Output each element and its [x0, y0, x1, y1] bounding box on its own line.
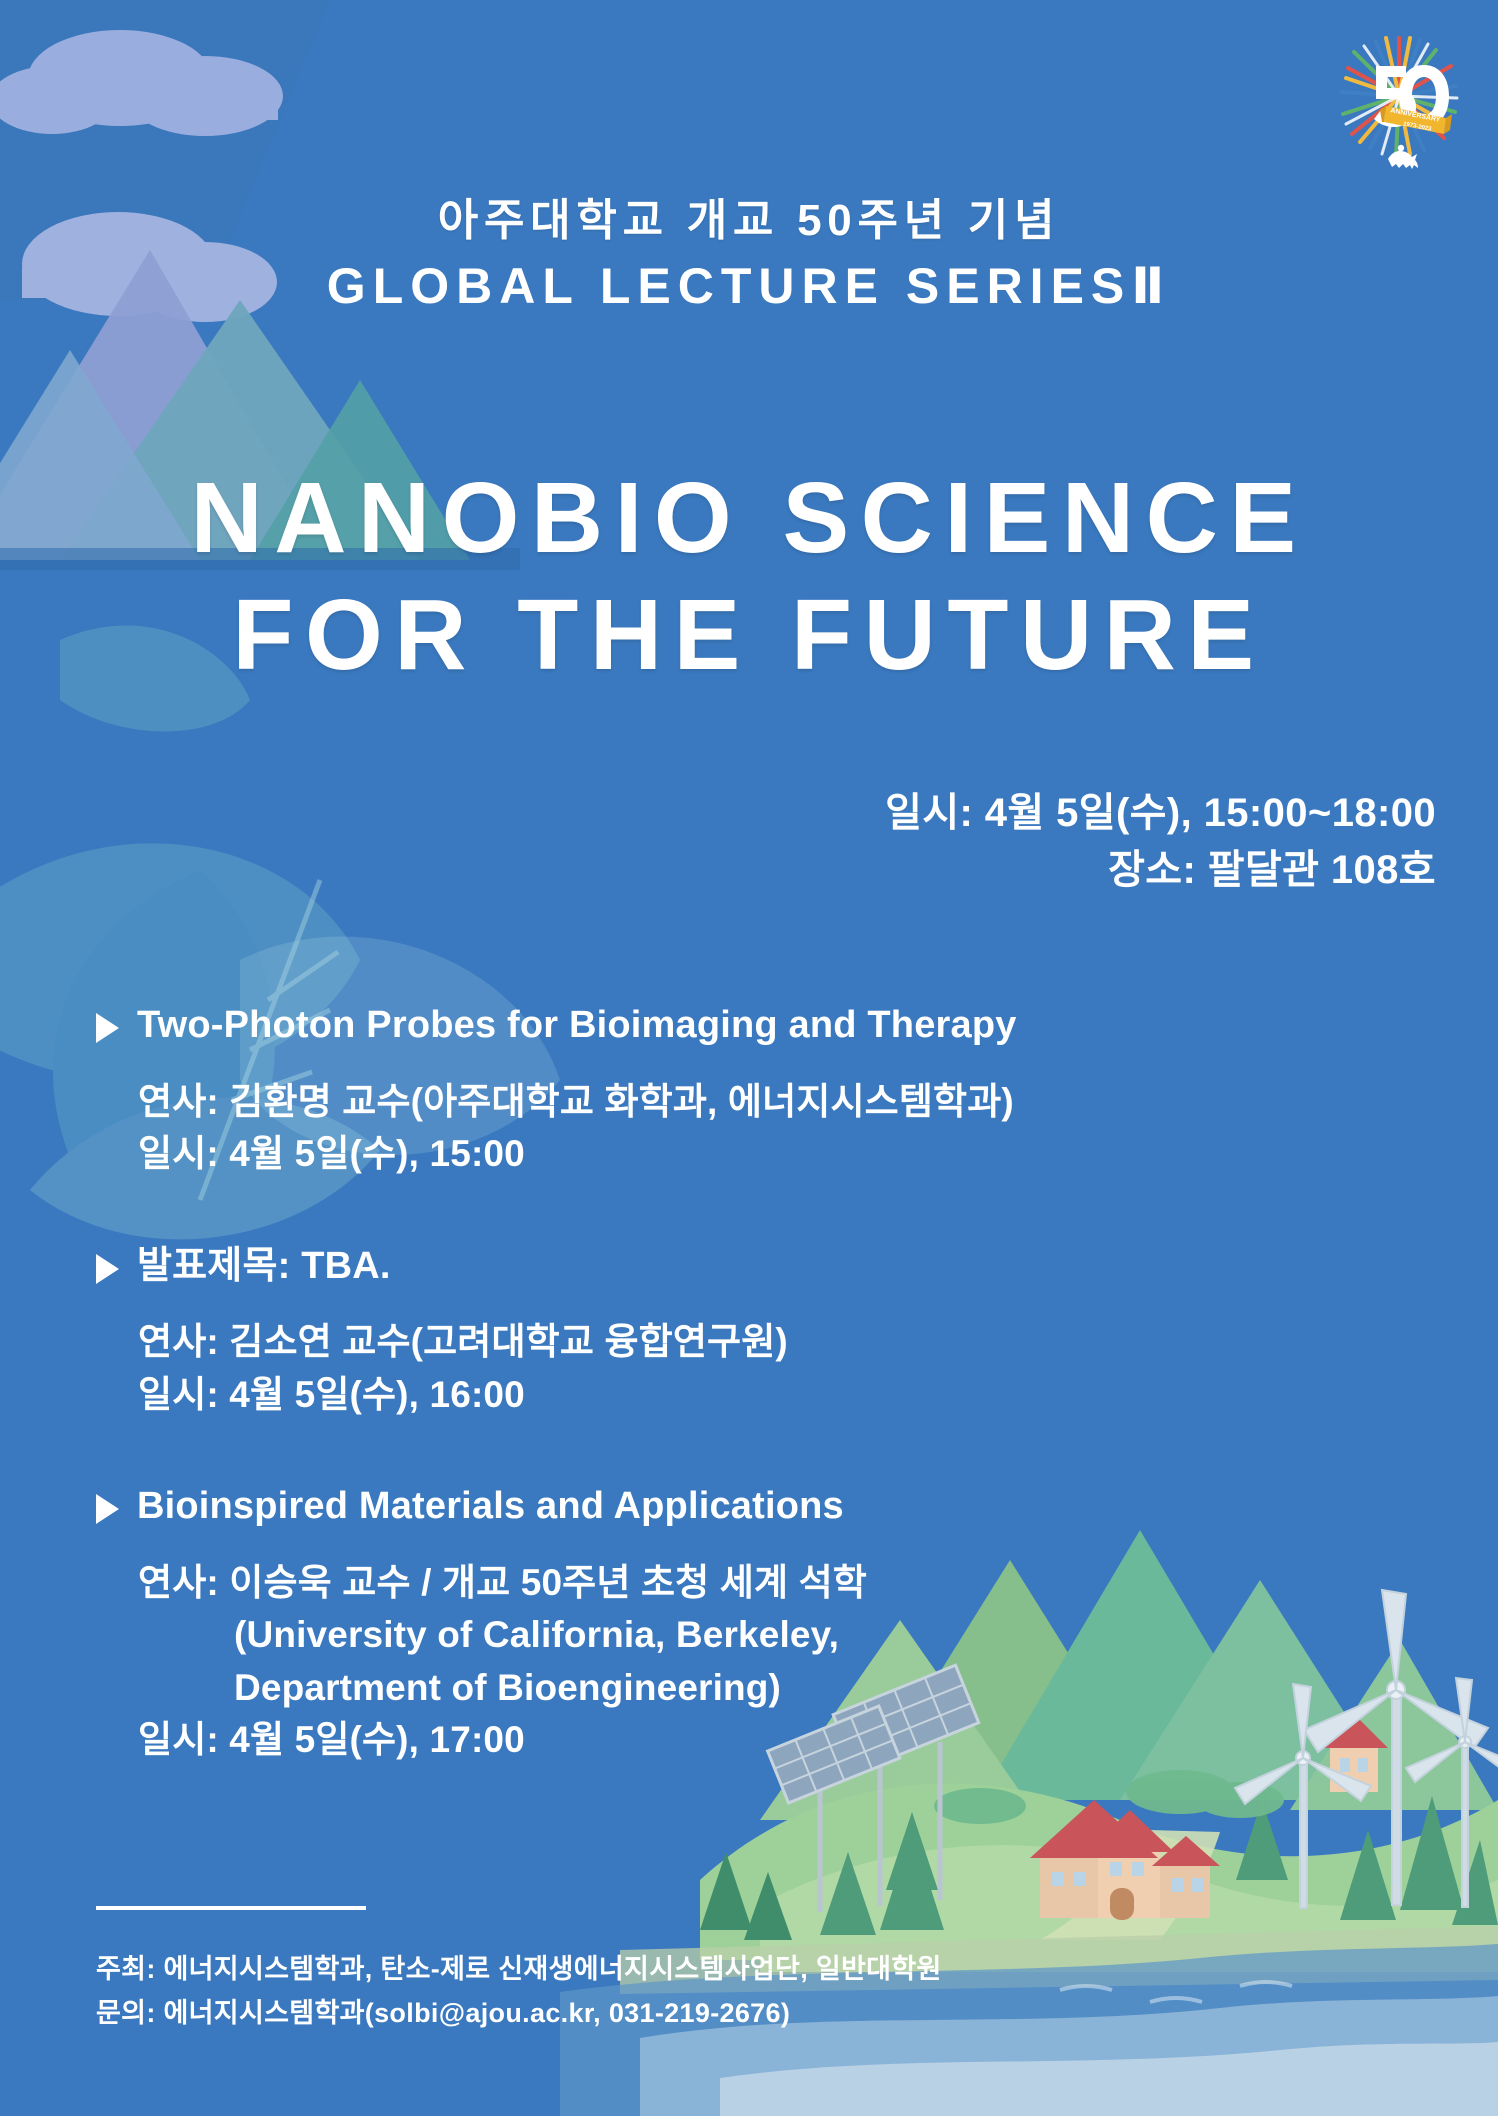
talk-title-row: Bioinspired Materials and Applications [96, 1483, 1438, 1531]
header-series-title: GLOBAL LECTURE SERIESⅡ [0, 259, 1498, 314]
header-kicker: 아주대학교 개교 50주년 기념 [0, 196, 1498, 247]
poster-main-title: NANOBIO SCIENCE FOR THE FUTURE [0, 460, 1498, 694]
talk-title-row: 발표제목: TBA. [96, 1243, 1438, 1291]
talk-title-row: Two-Photon Probes for Bioimaging and The… [96, 1002, 1438, 1050]
event-datetime: 일시: 4월 5일(수), 15:00~18:00 [885, 785, 1436, 842]
talk-item: 발표제목: TBA. 연사: 김소연 교수(고려대학교 융합연구원) 일시: 4… [96, 1243, 1438, 1422]
ajou-50th-anniversary-logo: ANNIVERSARY 1973-2023 [1324, 22, 1474, 172]
talk-speaker: 연사: 김소연 교수(고려대학교 융합연구원) [138, 1316, 1438, 1369]
triangle-bullet-icon [96, 1254, 119, 1284]
talk-title: Two-Photon Probes for Bioimaging and The… [137, 1002, 1017, 1050]
poster-footer: 주최: 에너지시스템학과, 탄소-제로 신재생에너지시스템사업단, 일반대학원 … [96, 1948, 942, 2035]
talk-time: 일시: 4월 5일(수), 17:00 [138, 1714, 1438, 1767]
talk-title: 발표제목: TBA. [137, 1243, 391, 1291]
talk-details: 연사: 김환명 교수(아주대학교 화학과, 에너지시스템학과) 일시: 4월 5… [138, 1076, 1438, 1181]
footer-host: 주최: 에너지시스템학과, 탄소-제로 신재생에너지시스템사업단, 일반대학원 [96, 1948, 942, 1992]
footer-divider [96, 1906, 366, 1910]
talk-affiliation-line-1: (University of California, Berkeley, [138, 1609, 1438, 1662]
talk-speaker: 연사: 이승욱 교수 / 개교 50주년 초청 세계 석학 [138, 1557, 1438, 1610]
talk-title: Bioinspired Materials and Applications [137, 1483, 844, 1531]
talk-time: 일시: 4월 5일(수), 15:00 [138, 1128, 1438, 1181]
talk-list: Two-Photon Probes for Bioimaging and The… [96, 1002, 1438, 1767]
talk-speaker: 연사: 김환명 교수(아주대학교 화학과, 에너지시스템학과) [138, 1076, 1438, 1129]
poster-header: 아주대학교 개교 50주년 기념 GLOBAL LECTURE SERIESⅡ [0, 196, 1498, 314]
main-title-line-2: FOR THE FUTURE [0, 577, 1498, 694]
event-venue: 장소: 팔달관 108호 [885, 842, 1436, 899]
talk-details: 연사: 김소연 교수(고려대학교 융합연구원) 일시: 4월 5일(수), 16… [138, 1316, 1438, 1421]
event-meta: 일시: 4월 5일(수), 15:00~18:00 장소: 팔달관 108호 [885, 785, 1436, 899]
triangle-bullet-icon [96, 1013, 119, 1043]
lecture-poster: ANNIVERSARY 1973-2023 아주대학교 개교 50주년 기념 G… [0, 0, 1498, 2116]
talk-details: 연사: 이승욱 교수 / 개교 50주년 초청 세계 석학 (Universit… [138, 1557, 1438, 1767]
talk-time: 일시: 4월 5일(수), 16:00 [138, 1369, 1438, 1422]
talk-item: Bioinspired Materials and Applications 연… [96, 1483, 1438, 1767]
main-title-line-1: NANOBIO SCIENCE [0, 460, 1498, 577]
footer-contact: 문의: 에너지시스템학과(solbi@ajou.ac.kr, 031-219-2… [96, 1992, 942, 2036]
talk-item: Two-Photon Probes for Bioimaging and The… [96, 1002, 1438, 1181]
triangle-bullet-icon [96, 1494, 119, 1524]
talk-affiliation-line-2: Department of Bioengineering) [138, 1662, 1438, 1715]
